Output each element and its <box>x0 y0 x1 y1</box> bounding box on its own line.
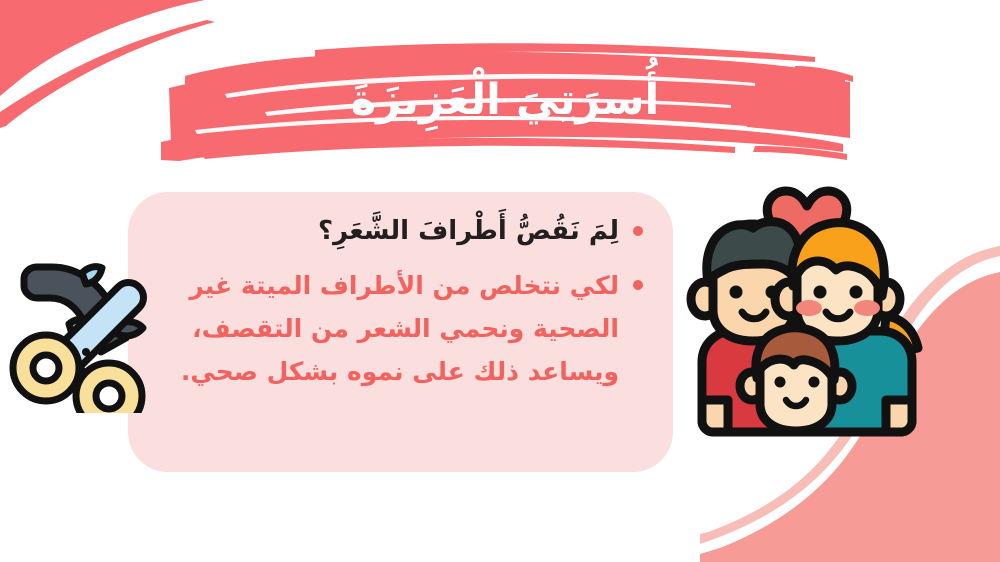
title-brush-band: أُسرَتِيَ الْعَزِيزَةَ <box>155 42 855 164</box>
slide-canvas: أُسرَتِيَ الْعَزِيزَةَ لِمَ نَقُصُّ أَطْ… <box>0 0 1000 562</box>
bullet-list: لِمَ نَقُصُّ أَطْرافَ الشَّعَرِ؟ لكي نتخ… <box>128 192 673 472</box>
scissors-pivot-dot <box>82 348 90 356</box>
family-icon <box>668 186 946 454</box>
scissors-icon <box>6 248 166 413</box>
question-text: لِمَ نَقُصُّ أَطْرافَ الشَّعَرِ؟ <box>162 210 619 252</box>
page-title: أُسرَتِيَ الْعَزِيزَةَ <box>155 42 855 164</box>
bullet-dot-icon <box>633 226 643 236</box>
bullet-dot-icon <box>633 280 643 290</box>
list-item-answer: لكي نتخلص من الأطراف الميتة غير الصحية و… <box>162 264 643 393</box>
answer-text: لكي نتخلص من الأطراف الميتة غير الصحية و… <box>162 264 619 393</box>
list-item-question: لِمَ نَقُصُّ أَطْرافَ الشَّعَرِ؟ <box>162 210 643 252</box>
